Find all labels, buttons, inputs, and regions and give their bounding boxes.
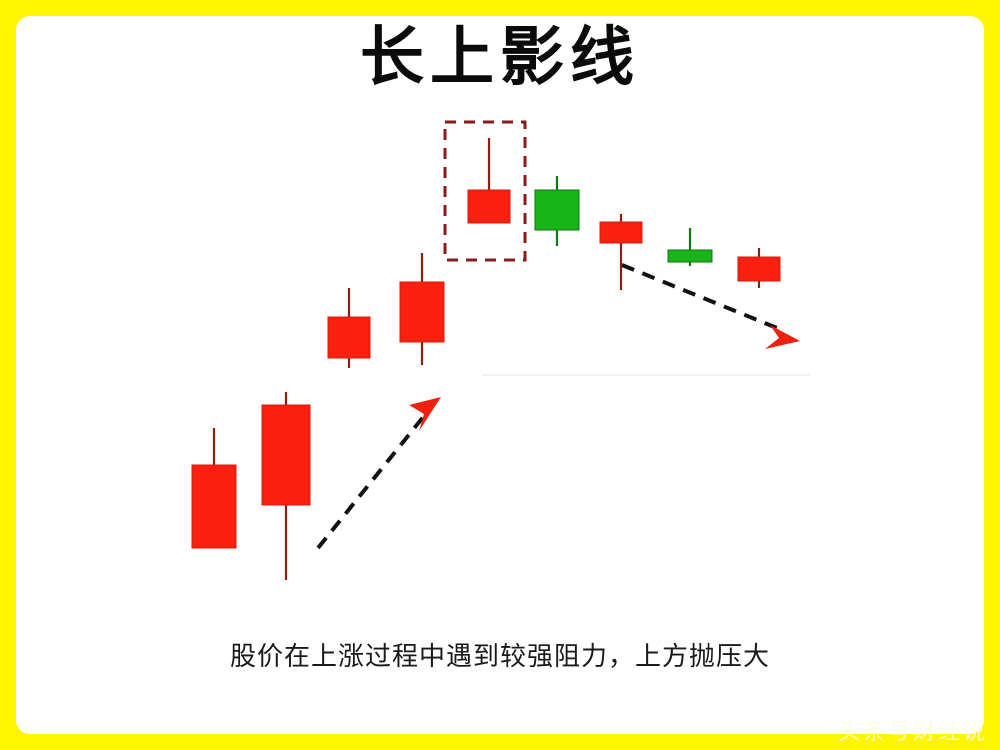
candlestick-8[interactable]	[738, 248, 780, 288]
candle-body	[192, 465, 236, 548]
slide-root: 长上影线 股价在上涨过程中遇到较强阻力，上方抛压大 头条号财经说	[0, 0, 1000, 750]
candle-body	[535, 190, 579, 230]
watermark: 头条号财经说	[838, 714, 988, 746]
candlestick-3[interactable]	[400, 253, 444, 365]
candle-body	[262, 405, 310, 505]
candle-series	[192, 138, 780, 580]
candle-body	[600, 222, 642, 243]
candlestick-2[interactable]	[328, 288, 370, 368]
candle-body	[400, 282, 444, 342]
candlestick-7[interactable]	[668, 228, 712, 266]
candle-body	[468, 190, 510, 223]
candle-body	[668, 250, 712, 262]
candlestick-6[interactable]	[600, 214, 642, 290]
candlestick-4[interactable]	[468, 138, 510, 223]
candle-body	[738, 257, 780, 281]
candlestick-5[interactable]	[535, 176, 579, 246]
uptrend-arrow	[318, 397, 441, 548]
candle-body	[328, 317, 370, 358]
candlestick-0[interactable]	[192, 428, 236, 548]
candlestick-1[interactable]	[262, 392, 310, 580]
caption-text: 股价在上涨过程中遇到较强阻力，上方抛压大	[0, 636, 1000, 673]
